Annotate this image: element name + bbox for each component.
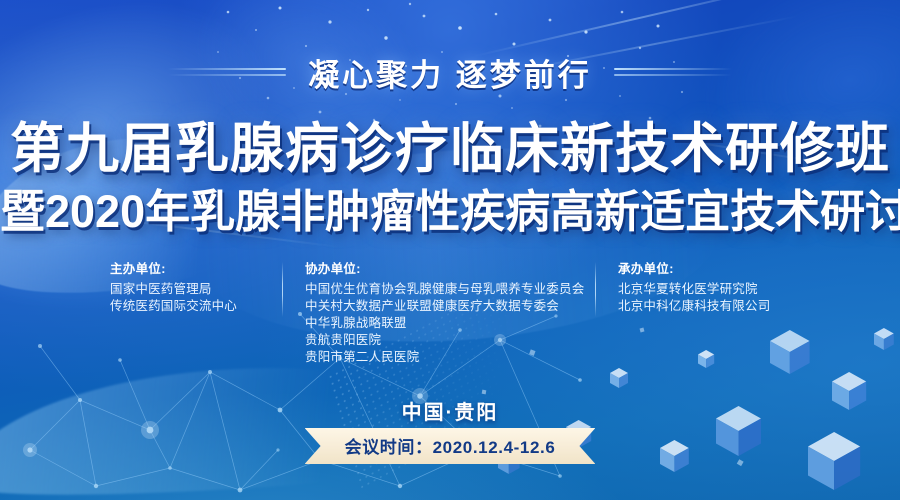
column-divider	[282, 262, 283, 317]
poster-subtitle: 凝心聚力 逐梦前行	[286, 50, 614, 95]
poster-title-line1: 第九届乳腺病诊疗临床新技术研修班	[0, 104, 900, 183]
conference-poster: 凝心聚力 逐梦前行 第九届乳腺病诊疗临床新技术研修班 暨2020年乳腺非肿瘤性疾…	[0, 0, 900, 500]
organizer-heading: 承办单位:	[618, 258, 790, 277]
column-divider	[595, 262, 596, 317]
subtitle-row: 凝心聚力 逐梦前行	[0, 50, 900, 95]
organizer-entry: 贵阳市第二人民医院	[305, 349, 573, 366]
organizer-column-coorganizer: 协办单位: 中国优生优育协会乳腺健康与母乳喂养专业委员会 中关村大数据产业联盟健…	[305, 258, 573, 366]
organizer-entry: 贵航贵阳医院	[305, 332, 573, 349]
organizer-entry: 中国优生优育协会乳腺健康与母乳喂养专业委员会	[305, 281, 573, 298]
organizer-entry: 北京华夏转化医学研究院	[618, 281, 790, 298]
date-banner-wrap: 会议时间：2020.12.4-12.6	[0, 428, 900, 464]
poster-title-line2: 暨2020年乳腺非肿瘤性疾病高新适宜技术研讨会	[0, 175, 900, 240]
organizer-entry: 北京中科亿康科技有限公司	[618, 298, 790, 315]
organizer-entry: 传统医药国际交流中心	[110, 298, 260, 315]
event-city: 中国·贵阳	[0, 396, 900, 425]
organizer-heading: 协办单位:	[305, 258, 573, 277]
organizer-column-host: 主办单位: 国家中医药管理局 传统医药国际交流中心	[110, 258, 260, 315]
organizer-entry: 中关村大数据产业联盟健康医疗大数据专委会	[305, 298, 573, 315]
organizer-heading: 主办单位:	[110, 258, 260, 277]
organizer-entry: 中华乳腺战略联盟	[305, 315, 573, 332]
organizer-column-undertaker: 承办单位: 北京华夏转化医学研究院 北京中科亿康科技有限公司	[618, 258, 790, 315]
organizer-section: 主办单位: 国家中医药管理局 传统医药国际交流中心 协办单位: 中国优生优育协会…	[0, 258, 900, 366]
poster-content: 凝心聚力 逐梦前行 第九届乳腺病诊疗临床新技术研修班 暨2020年乳腺非肿瘤性疾…	[0, 0, 900, 500]
event-date-banner: 会议时间：2020.12.4-12.6	[305, 428, 596, 464]
organizer-entry: 国家中医药管理局	[110, 281, 260, 298]
